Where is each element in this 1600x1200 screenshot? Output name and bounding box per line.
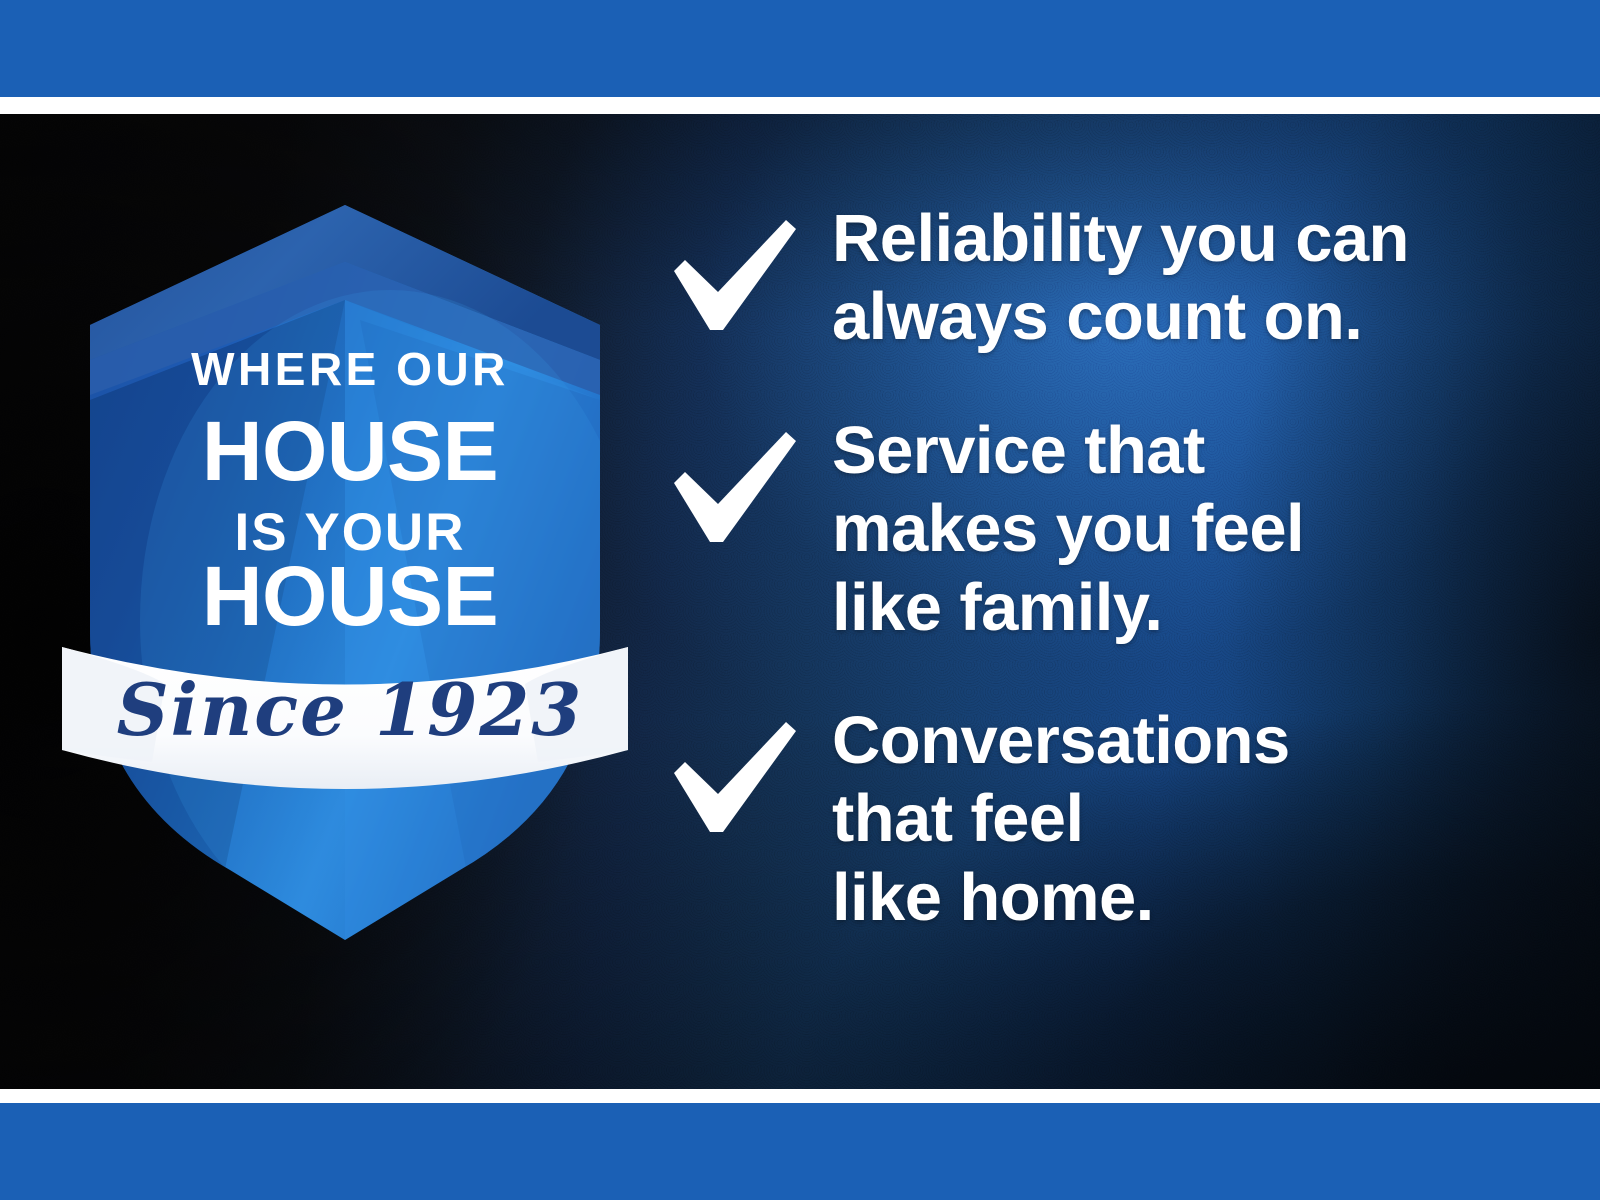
ribbon-label: Since 1923 xyxy=(117,667,584,752)
benefits-list: Reliability you can always count on. Ser… xyxy=(668,200,1548,937)
check-icon xyxy=(668,428,800,548)
bottom-brand-bar xyxy=(0,1103,1600,1200)
check-icon xyxy=(668,216,800,336)
shield-logo: WHERE OUR HOUSE IS YOUR HOUSE Since 1923 xyxy=(60,150,630,940)
shield-line-2: HOUSE xyxy=(202,404,498,498)
list-item: Conversations that feel like home. xyxy=(668,702,1548,937)
shield-wordmark: WHERE OUR HOUSE IS YOUR HOUSE xyxy=(191,343,509,643)
check-icon xyxy=(668,718,800,838)
list-item-label: Conversations that feel like home. xyxy=(832,702,1290,937)
shield-line-4: HOUSE xyxy=(202,549,498,643)
promo-graphic: WHERE OUR HOUSE IS YOUR HOUSE Since 1923… xyxy=(0,0,1600,1200)
list-item-label: Reliability you can always count on. xyxy=(832,200,1409,357)
shield-line-1: WHERE OUR xyxy=(191,343,509,395)
list-item: Reliability you can always count on. xyxy=(668,200,1548,357)
list-item: Service that makes you feel like family. xyxy=(668,412,1548,647)
list-item-label: Service that makes you feel like family. xyxy=(832,412,1304,647)
ribbon-banner: Since 1923 xyxy=(62,647,628,789)
top-brand-bar xyxy=(0,0,1600,97)
